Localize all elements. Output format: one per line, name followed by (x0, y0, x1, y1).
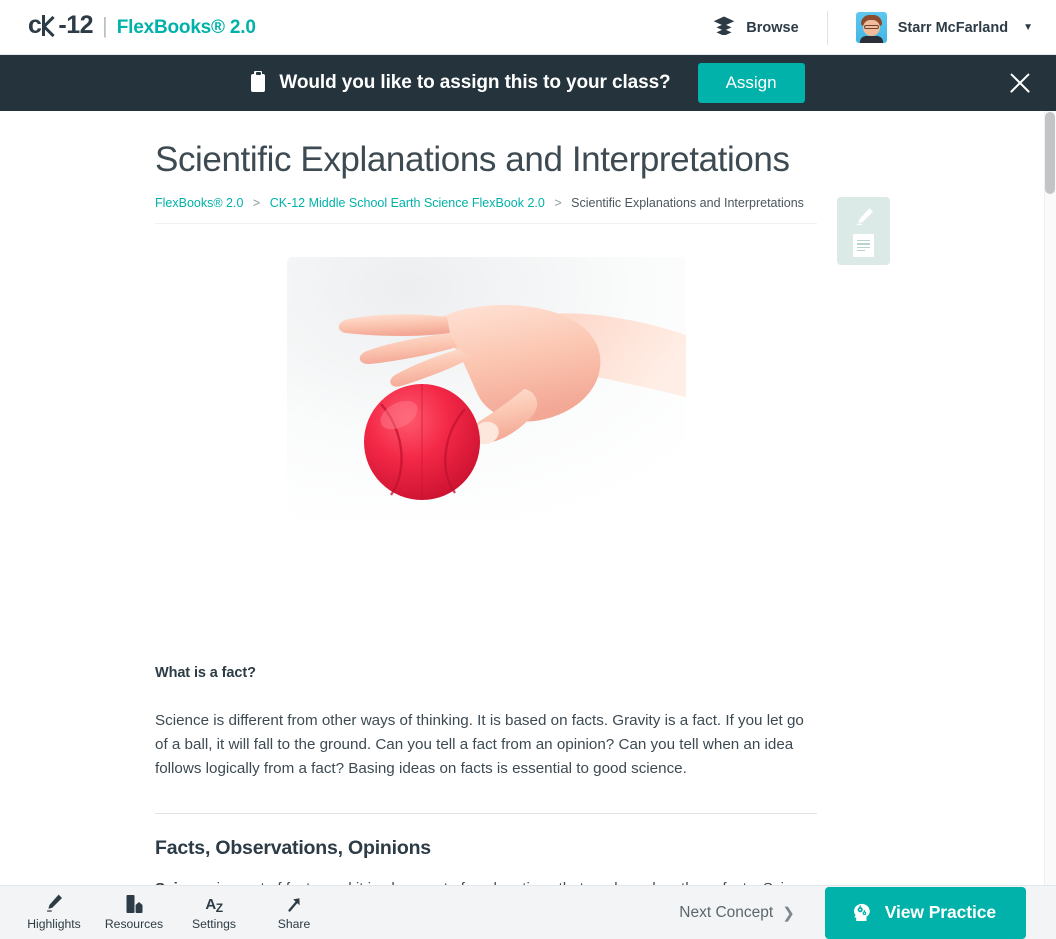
view-practice-button[interactable]: View Practice (825, 887, 1026, 939)
brain-head-icon (849, 900, 872, 926)
assign-banner: Would you like to assign this to your cl… (0, 55, 1056, 111)
vertical-scrollbar-thumb[interactable] (1045, 112, 1055, 194)
header-actions: Browse Starr McFarland ▼ (713, 0, 1033, 55)
ck12-logo[interactable]: c-12 | FlexBooks® 2.0 (28, 13, 256, 38)
page-title: Scientific Explanations and Interpretati… (155, 140, 790, 180)
avatar (856, 12, 887, 43)
document-icon (853, 234, 874, 257)
top-header-bar: c-12 | FlexBooks® 2.0 Browse (0, 0, 1056, 55)
breadcrumb-separator: > (253, 196, 260, 210)
footer-button-highlights[interactable]: Highlights (14, 892, 94, 933)
assign-button[interactable]: Assign (698, 63, 805, 104)
highlight-tools-tab[interactable] (837, 197, 890, 265)
footer-toolbar: Highlights Resources AZ Settings (0, 885, 1056, 939)
clipboard-icon (251, 74, 265, 92)
breadcrumb: FlexBooks® 2.0 > CK-12 Middle School Ear… (155, 195, 804, 213)
breadcrumb-item-flexbooks[interactable]: FlexBooks® 2.0 (155, 196, 243, 210)
vertical-scrollbar-track[interactable] (1044, 111, 1056, 939)
highlighter-pen-icon (44, 892, 64, 914)
next-concept-button[interactable]: Next Concept ❯ (679, 904, 825, 922)
browse-label: Browse (746, 20, 798, 36)
section-divider (155, 813, 817, 814)
browse-button[interactable]: Browse (713, 16, 826, 40)
footer-button-share[interactable]: Share (254, 892, 334, 933)
footer-button-resources[interactable]: Resources (94, 892, 174, 933)
highlighter-pen-icon (852, 205, 876, 229)
footer-button-settings[interactable]: AZ Settings (174, 892, 254, 933)
user-name: Starr McFarland (898, 20, 1008, 36)
breadcrumb-item-earth-science[interactable]: CK-12 Middle School Earth Science FlexBo… (270, 196, 545, 210)
az-text-settings-icon: AZ (205, 892, 222, 914)
assign-banner-content: Would you like to assign this to your cl… (251, 63, 804, 104)
logo-mark: c-12 (28, 13, 93, 38)
logo-k-glyph (41, 13, 58, 38)
footer-label-share: Share (278, 918, 311, 930)
footer-label-resources: Resources (105, 918, 163, 930)
breadcrumb-separator: > (554, 196, 561, 210)
assign-banner-message: Would you like to assign this to your cl… (279, 72, 670, 94)
chevron-down-icon: ▼ (1023, 22, 1033, 33)
ck12-flexbook-page: c-12 | FlexBooks® 2.0 Browse (0, 0, 1056, 939)
book-icon (125, 892, 144, 914)
view-practice-label: View Practice (885, 902, 996, 923)
logo-product-name: FlexBooks® 2.0 (117, 18, 256, 37)
breadcrumb-divider (155, 223, 817, 224)
footer-label-settings: Settings (192, 918, 236, 930)
user-menu[interactable]: Starr McFarland ▼ (828, 12, 1033, 43)
next-concept-label: Next Concept (679, 904, 773, 922)
footer-tool-group: Highlights Resources AZ Settings (0, 892, 334, 933)
layers-icon (713, 16, 735, 40)
footer-navigation: Next Concept ❯ View Practice (679, 887, 1056, 939)
section-heading-facts-observations-opinions: Facts, Observations, Opinions (155, 837, 431, 860)
paragraph-what-is-a-fact: Science is different from other ways of … (155, 709, 817, 781)
breadcrumb-item-current: Scientific Explanations and Interpretati… (571, 196, 804, 210)
content-scroll-area[interactable]: Scientific Explanations and Interpretati… (0, 111, 1044, 939)
logo-separator: | (102, 15, 108, 37)
section-heading-what-is-a-fact: What is a fact? (155, 665, 256, 681)
share-arrow-icon (285, 892, 303, 914)
footer-label-highlights: Highlights (27, 918, 81, 930)
chevron-right-icon: ❯ (782, 904, 795, 922)
close-icon[interactable] (1005, 68, 1035, 98)
hero-image (287, 257, 686, 519)
